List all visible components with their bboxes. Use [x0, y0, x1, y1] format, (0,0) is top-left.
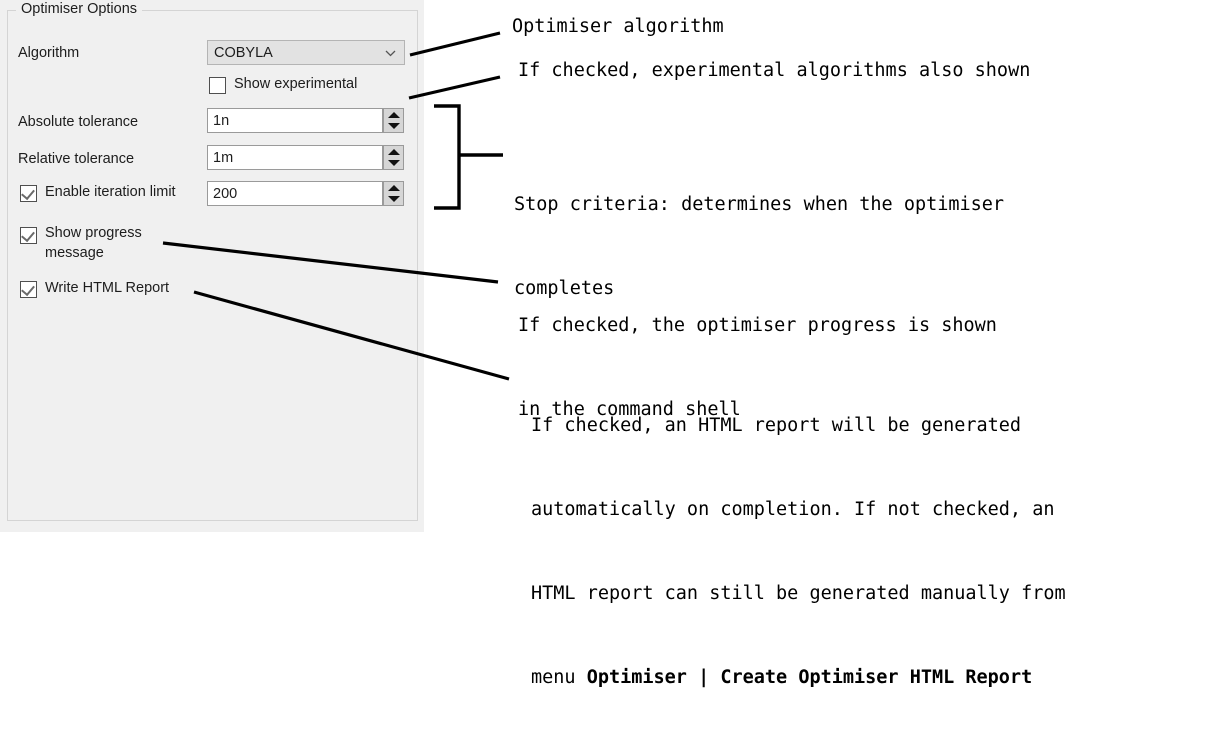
stepper-up-icon[interactable] [388, 112, 400, 118]
algorithm-combobox-value: COBYLA [214, 44, 273, 62]
annotation-html-report-menu-path: Optimiser | Create Optimiser HTML Report [587, 667, 1033, 688]
annotation-stop-criteria-line-2: completes [514, 275, 1004, 303]
algorithm-combobox[interactable]: COBYLA [207, 40, 405, 65]
relative-tolerance-stepper[interactable] [383, 145, 404, 170]
show-progress-message-label: Show progress message [45, 223, 165, 263]
chevron-down-icon [385, 48, 396, 59]
annotation-progress-message: If checked, the optimiser progress is sh… [518, 256, 997, 480]
absolute-tolerance-input[interactable]: 1n [207, 108, 383, 133]
stepper-up-icon[interactable] [388, 185, 400, 191]
annotation-html-report-line-4: menu Optimiser | Create Optimiser HTML R… [531, 664, 1066, 692]
checkbox-box [20, 227, 37, 244]
annotation-html-report-line-1: If checked, an HTML report will be gener… [531, 412, 1066, 440]
relative-tolerance-input[interactable]: 1m [207, 145, 383, 170]
checkmark-icon [21, 228, 35, 242]
checkmark-icon [21, 186, 35, 200]
annotation-html-report-line-4-prefix: menu [531, 667, 587, 688]
annotation-html-report-line-2: automatically on completion. If not chec… [531, 496, 1066, 524]
show-experimental-label: Show experimental [234, 75, 357, 93]
annotation-algorithm: Optimiser algorithm [512, 13, 724, 41]
stepper-up-icon[interactable] [388, 149, 400, 155]
annotation-html-report: If checked, an HTML report will be gener… [531, 356, 1066, 748]
algorithm-label: Algorithm [18, 44, 79, 62]
iteration-limit-value: 200 [213, 185, 237, 203]
iteration-limit-input[interactable]: 200 [207, 181, 383, 206]
relative-tolerance-label: Relative tolerance [18, 150, 134, 168]
annotation-progress-message-line-2: in the command shell [518, 396, 997, 424]
absolute-tolerance-value: 1n [213, 112, 229, 130]
checkbox-box [20, 185, 37, 202]
groupbox-title: Optimiser Options [16, 0, 142, 18]
annotation-html-report-line-3: HTML report can still be generated manua… [531, 580, 1066, 608]
iteration-limit-stepper[interactable] [383, 181, 404, 206]
annotation-stop-criteria-line-1: Stop criteria: determines when the optim… [514, 191, 1004, 219]
checkmark-icon [21, 282, 35, 296]
annotation-show-experimental: If checked, experimental algorithms also… [518, 57, 1030, 85]
write-html-report-label: Write HTML Report [45, 279, 169, 297]
stepper-down-icon[interactable] [388, 160, 400, 166]
enable-iteration-limit-label: Enable iteration limit [45, 183, 176, 201]
absolute-tolerance-label: Absolute tolerance [18, 113, 138, 131]
checkbox-box [209, 77, 226, 94]
annotation-stop-criteria: Stop criteria: determines when the optim… [514, 135, 1004, 359]
relative-tolerance-value: 1m [213, 149, 233, 167]
stepper-down-icon[interactable] [388, 196, 400, 202]
optimiser-options-panel: Optimiser Options Algorithm COBYLA Show … [0, 0, 424, 532]
checkbox-box [20, 281, 37, 298]
absolute-tolerance-stepper[interactable] [383, 108, 404, 133]
stepper-down-icon[interactable] [388, 123, 400, 129]
annotation-progress-message-line-1: If checked, the optimiser progress is sh… [518, 312, 997, 340]
